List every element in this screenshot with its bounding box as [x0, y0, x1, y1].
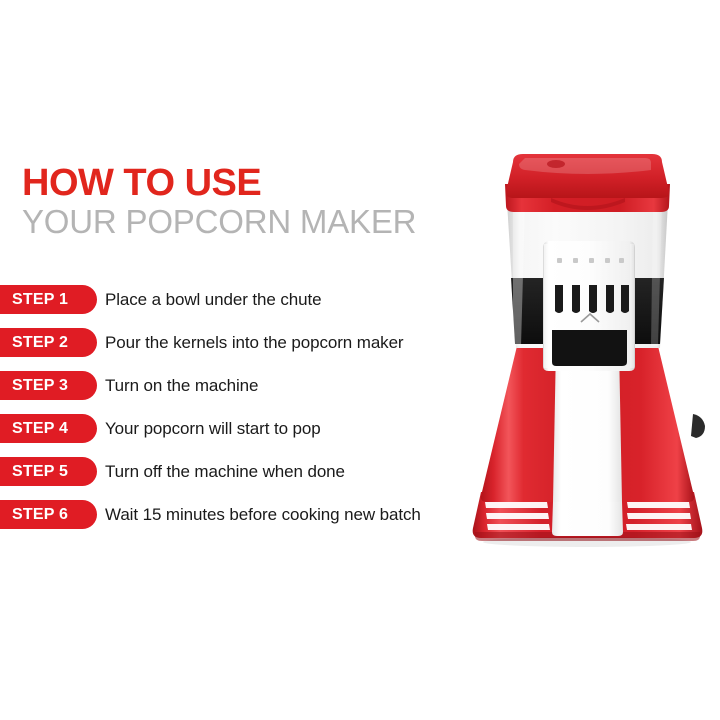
- list-item: STEP 6 Wait 15 minutes before cooking ne…: [0, 500, 500, 529]
- machine-front-white-stripe: [552, 346, 623, 536]
- machine-lid: [505, 154, 670, 212]
- step-badge-label: STEP 5: [0, 463, 68, 481]
- popcorn-maker-image: [455, 140, 720, 570]
- step-description: Pour the kernels into the popcorn maker: [105, 328, 404, 357]
- step-badge: STEP 5: [0, 457, 97, 486]
- step-description: Turn on the machine: [105, 371, 258, 400]
- step-badge: STEP 2: [0, 328, 97, 357]
- list-item: STEP 1 Place a bowl under the chute: [0, 285, 500, 314]
- page-title-line2: YOUR POPCORN MAKER: [22, 203, 492, 241]
- steps-list: STEP 1 Place a bowl under the chute STEP…: [0, 285, 500, 543]
- step-badge-label: STEP 6: [0, 506, 68, 524]
- step-badge: STEP 1: [0, 285, 97, 314]
- list-item: STEP 3 Turn on the machine: [0, 371, 500, 400]
- step-description: Your popcorn will start to pop: [105, 414, 321, 443]
- step-badge-label: STEP 4: [0, 420, 68, 438]
- power-cord: [691, 414, 705, 438]
- page-title-line1: HOW TO USE: [22, 163, 492, 203]
- step-description: Turn off the machine when done: [105, 457, 345, 486]
- list-item: STEP 4 Your popcorn will start to pop: [0, 414, 500, 443]
- step-badge-label: STEP 3: [0, 377, 68, 395]
- step-badge-label: STEP 2: [0, 334, 68, 352]
- machine-chute-panel: [543, 241, 635, 371]
- step-badge-label: STEP 1: [0, 291, 68, 309]
- list-item: STEP 5 Turn off the machine when done: [0, 457, 500, 486]
- base-chrome-stripes-left: [485, 502, 550, 530]
- step-description: Wait 15 minutes before cooking new batch: [105, 500, 421, 529]
- page-title: HOW TO USE YOUR POPCORN MAKER: [22, 163, 492, 241]
- step-badge: STEP 4: [0, 414, 97, 443]
- product-instruction-graphic: HOW TO USE YOUR POPCORN MAKER STEP 1 Pla…: [0, 0, 720, 720]
- step-badge: STEP 6: [0, 500, 97, 529]
- step-description: Place a bowl under the chute: [105, 285, 321, 314]
- base-chrome-stripes-right: [626, 502, 692, 530]
- ground-shadow: [483, 537, 691, 547]
- step-badge: STEP 3: [0, 371, 97, 400]
- list-item: STEP 2 Pour the kernels into the popcorn…: [0, 328, 500, 357]
- lid-dimple: [547, 160, 565, 168]
